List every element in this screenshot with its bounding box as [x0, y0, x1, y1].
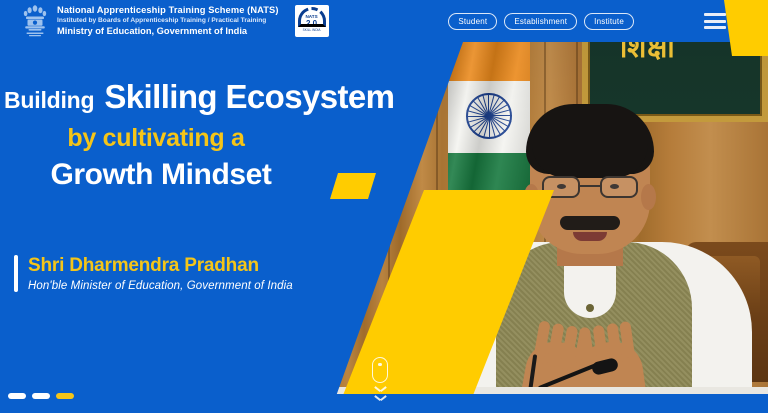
- nav-pill-student[interactable]: Student: [448, 13, 497, 30]
- chevron-down-icon: [375, 395, 386, 401]
- brand-lockup[interactable]: National Apprenticeship Training Scheme …: [0, 2, 329, 40]
- badge-bottom-label: SKILL INDIA: [303, 29, 321, 32]
- carousel-dot-2[interactable]: [32, 393, 50, 399]
- carousel-dot-1[interactable]: [8, 393, 26, 399]
- brand-text: National Apprenticeship Training Scheme …: [57, 5, 279, 36]
- bottom-blue-bar: [336, 394, 768, 413]
- speaker-name: Shri Dharmendra Pradhan: [28, 255, 293, 277]
- speaker-accent-bar: [14, 255, 18, 292]
- carousel-indicators: [8, 393, 74, 399]
- india-state-emblem-icon: [20, 2, 50, 40]
- headline-prefix: Building: [4, 87, 94, 114]
- nav-pills: Student Establishment Institute: [448, 13, 634, 30]
- hamburger-menu-icon[interactable]: [704, 13, 726, 29]
- headline-line-3: Growth Mindset: [0, 158, 400, 192]
- brand-line-1: National Apprenticeship Training Scheme …: [57, 5, 279, 15]
- chevron-down-icon: [375, 386, 386, 392]
- site-header: National Apprenticeship Training Scheme …: [0, 0, 768, 42]
- headline-line-1: Building Skilling Ecosystem: [0, 78, 400, 116]
- brand-line-2: Instituted by Boards of Apprenticeship T…: [57, 17, 279, 24]
- hero-banner: शिक्षा: [0, 0, 768, 413]
- scroll-down-cue[interactable]: [367, 357, 393, 401]
- headline-main: Skilling Ecosystem: [104, 78, 394, 116]
- headline-line-2: by cultivating a: [0, 124, 400, 153]
- hero-headline: Building Skilling Ecosystem by cultivati…: [0, 78, 400, 192]
- nav-pill-establishment[interactable]: Establishment: [504, 13, 577, 30]
- speaker-block: Shri Dharmendra Pradhan Hon'ble Minister…: [14, 255, 293, 292]
- badge-arc: [298, 7, 326, 27]
- nav-pill-institute[interactable]: Institute: [584, 13, 634, 30]
- mouse-scroll-icon: [372, 357, 388, 383]
- carousel-dot-3[interactable]: [56, 393, 74, 399]
- speaker-role: Hon'ble Minister of Education, Governmen…: [28, 280, 293, 292]
- brand-line-3: Ministry of Education, Government of Ind…: [57, 26, 279, 36]
- nats-2-0-badge-icon[interactable]: NATS 2.0 SKILL INDIA: [295, 5, 329, 37]
